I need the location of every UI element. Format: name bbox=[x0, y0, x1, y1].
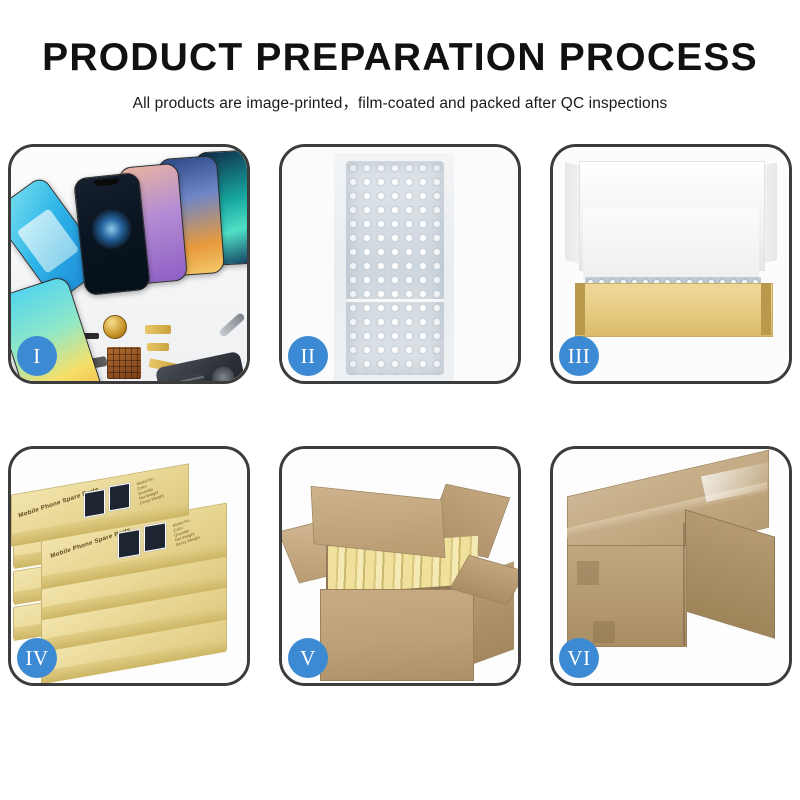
page-title: PRODUCT PREPARATION PROCESS bbox=[0, 0, 800, 77]
phone-front-glass-icon bbox=[73, 172, 151, 296]
kraft-box-base-icon bbox=[575, 283, 773, 337]
box-product-thumbnail bbox=[109, 483, 130, 512]
chip-board-icon bbox=[107, 347, 141, 379]
flex-cable-1-icon bbox=[145, 325, 171, 334]
step-card-4: Mobile Phone Spare Parts Model No. Color… bbox=[8, 446, 250, 686]
step-badge-4: IV bbox=[17, 638, 57, 678]
step-card-2: II bbox=[279, 144, 521, 384]
speaker-coil-icon bbox=[103, 315, 127, 339]
product-preparation-infographic: PRODUCT PREPARATION PROCESS All products… bbox=[0, 0, 800, 800]
carton-front-icon bbox=[320, 589, 474, 681]
flex-cable-2-icon bbox=[147, 343, 169, 351]
step-numeral-6: VI bbox=[567, 646, 590, 671]
step-badge-5: V bbox=[288, 638, 328, 678]
step-card-1: I bbox=[8, 144, 250, 384]
step-badge-1: I bbox=[17, 336, 57, 376]
step-numeral-1: I bbox=[33, 344, 41, 369]
wrap-seam-icon bbox=[346, 299, 444, 302]
carton-tab-icon bbox=[593, 621, 615, 643]
box-edge-right-icon bbox=[761, 283, 771, 335]
step-card-6: VI bbox=[550, 446, 792, 686]
box-product-thumbnail bbox=[84, 489, 105, 518]
step-numeral-3: III bbox=[568, 344, 590, 369]
phone-chassis-icon bbox=[155, 351, 247, 381]
tweezers-icon bbox=[218, 312, 246, 338]
header: PRODUCT PREPARATION PROCESS All products… bbox=[0, 0, 800, 113]
box-product-thumbnail bbox=[144, 522, 166, 552]
page-subtitle: All products are image-printed，film-coat… bbox=[0, 77, 800, 113]
foam-insert-icon bbox=[583, 207, 759, 279]
bubble-wrap-icon bbox=[346, 161, 444, 375]
step-badge-3: III bbox=[559, 336, 599, 376]
step-badge-2: II bbox=[288, 336, 328, 376]
steps-grid: I II bbox=[8, 144, 792, 744]
step-badge-6: VI bbox=[559, 638, 599, 678]
box-product-thumbnail bbox=[118, 529, 140, 559]
carton-corner-seam-icon bbox=[683, 523, 685, 645]
step-numeral-4: IV bbox=[25, 646, 48, 671]
box-edge-left-icon bbox=[575, 283, 585, 335]
step-card-5: V bbox=[279, 446, 521, 686]
step-card-3: III bbox=[550, 144, 792, 384]
step-numeral-2: II bbox=[301, 344, 316, 369]
step-numeral-5: V bbox=[300, 646, 316, 671]
carton-tab-icon bbox=[577, 561, 599, 585]
